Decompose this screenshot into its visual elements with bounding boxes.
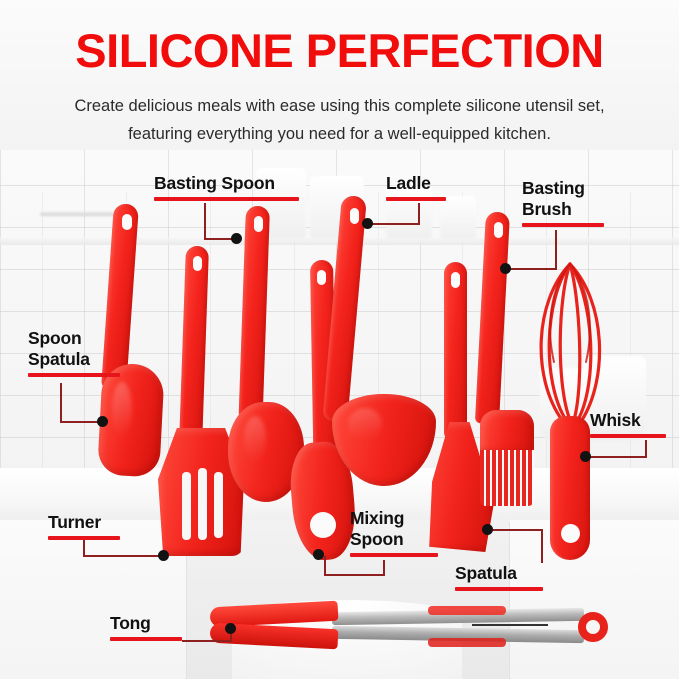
callout-tong-underline [110, 637, 182, 641]
ladle-hang-hole [350, 208, 359, 224]
turner-slot-2 [198, 468, 207, 540]
dot-basting-brush [500, 263, 511, 274]
ladle-highlight [348, 408, 382, 440]
basting-spoon-handle [239, 206, 270, 421]
callout-turner-label: Turner [48, 512, 120, 533]
tong-lock-arrow [472, 624, 548, 626]
callout-turner[interactable]: Turner [48, 512, 120, 540]
whisk-hang-hole [561, 524, 580, 543]
dot-spatula [482, 524, 493, 535]
utensil-whisk[interactable] [528, 258, 612, 560]
leader-whisk-h [586, 456, 647, 458]
callout-mixing-spoon-underline [350, 553, 438, 557]
basting-spoon-highlight [244, 416, 266, 462]
utensil-tong[interactable] [204, 598, 614, 656]
callout-spatula-label: Spatula [455, 563, 543, 584]
dot-mixing-spoon [313, 549, 324, 560]
mixing-spoon-hang-hole [317, 270, 326, 285]
spoon-spatula-hang-hole [122, 214, 132, 230]
callout-whisk[interactable]: Whisk [590, 410, 666, 438]
basting-brush-handle [475, 211, 510, 424]
leader-spatula-v [541, 529, 543, 563]
callout-spatula[interactable]: Spatula [455, 563, 543, 591]
spatula-handle [444, 262, 467, 440]
ladle-handle [322, 195, 367, 422]
callout-spoon-spatula-underline [28, 373, 120, 377]
callout-mixing-spoon[interactable]: Mixing Spoon [350, 508, 438, 557]
leader-mixing-spoon-h [324, 574, 385, 576]
callout-spatula-underline [455, 587, 543, 591]
turner-handle [179, 246, 209, 447]
basting-brush-bristles [480, 450, 534, 506]
callout-basting-spoon-underline [154, 197, 299, 201]
leader-ladle-h [368, 223, 420, 225]
callout-ladle-underline [386, 197, 446, 201]
leader-turner-v [83, 540, 85, 555]
infographic-canvas: SILICONE PERFECTION Create delicious mea… [0, 0, 679, 679]
turner-hang-hole [193, 256, 202, 271]
tong-grip-lower [428, 638, 506, 647]
dot-spoon-spatula [97, 416, 108, 427]
callout-basting-spoon[interactable]: Basting Spoon [154, 173, 299, 201]
callout-ladle[interactable]: Ladle [386, 173, 446, 201]
tong-grip-upper [428, 606, 506, 615]
dot-ladle [362, 218, 373, 229]
page-title: SILICONE PERFECTION [0, 24, 679, 78]
leader-ladle-v [418, 203, 420, 223]
callout-basting-brush-label: Basting Brush [522, 178, 604, 220]
callout-tong[interactable]: Tong [110, 613, 182, 641]
dot-tong [225, 623, 236, 634]
tong-ring [578, 612, 608, 642]
spoon-spatula-highlight [112, 382, 132, 438]
leader-basting-spoon-v [204, 203, 206, 238]
basting-spoon-hang-hole [254, 216, 263, 232]
dot-whisk [580, 451, 591, 462]
leader-mixing-spoon-v2 [324, 556, 326, 576]
callout-basting-brush-underline [522, 223, 604, 227]
callout-basting-spoon-label: Basting Spoon [154, 173, 299, 194]
spatula-hang-hole [451, 272, 460, 288]
page-subtitle: Create delicious meals with ease using t… [46, 92, 633, 148]
leader-basting-brush-h [506, 268, 557, 270]
mixing-spoon-center-hole [310, 512, 336, 538]
callout-spoon-spatula-label: Spoon Spatula [28, 328, 120, 370]
background-jar-4 [440, 196, 476, 240]
leader-spoon-spatula-v [60, 383, 62, 421]
callout-spoon-spatula[interactable]: Spoon Spatula [28, 328, 120, 377]
leader-spatula-h [488, 529, 543, 531]
callout-basting-brush[interactable]: Basting Brush [522, 178, 604, 227]
callout-whisk-underline [590, 434, 666, 438]
dot-turner [158, 550, 169, 561]
leader-whisk-v [645, 440, 647, 456]
leader-spoon-spatula-h [60, 421, 100, 423]
callout-ladle-label: Ladle [386, 173, 446, 194]
callout-tong-label: Tong [110, 613, 182, 634]
turner-slot-1 [182, 472, 191, 540]
basting-brush-hang-hole [494, 222, 503, 238]
leader-mixing-spoon-v [383, 560, 385, 574]
leader-tong-h [182, 640, 230, 642]
leader-turner-h [83, 555, 163, 557]
basting-brush-head [480, 410, 534, 454]
callout-mixing-spoon-label: Mixing Spoon [350, 508, 438, 550]
leader-basting-brush-v [555, 230, 557, 268]
callout-whisk-label: Whisk [590, 410, 666, 431]
dot-basting-spoon [231, 233, 242, 244]
utensil-basting-brush[interactable] [472, 212, 534, 500]
